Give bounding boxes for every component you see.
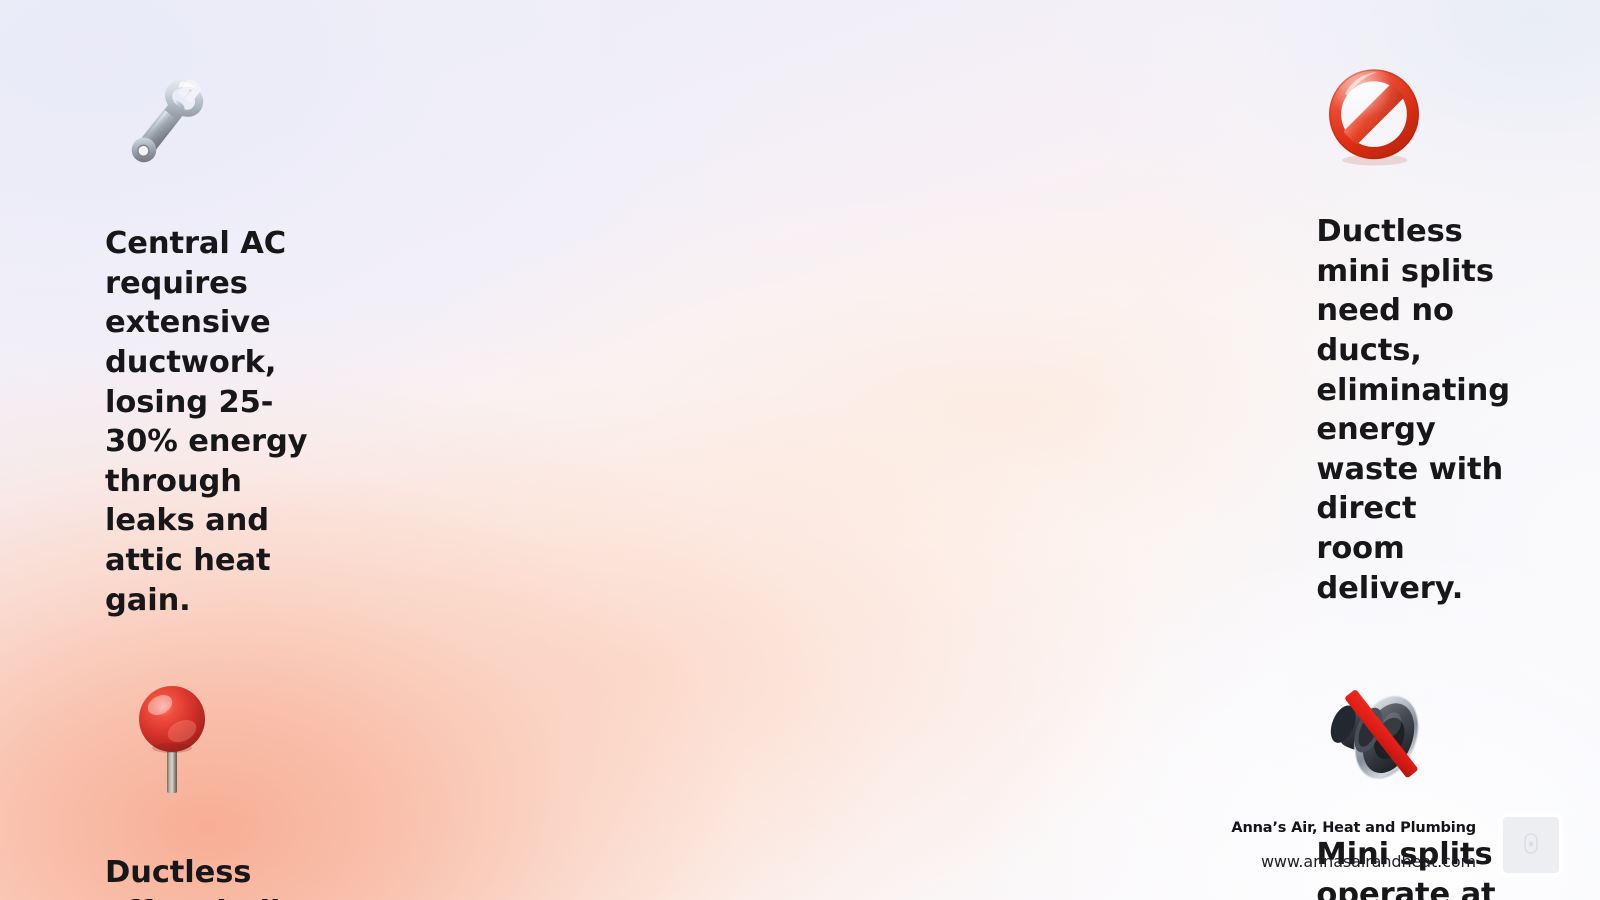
muted-speaker-icon [1321,675,1441,793]
wrench-icon [107,62,225,180]
card-text: Ductless offers built-in zoning for room… [105,853,311,900]
brand-website-url[interactable]: www.annasairandheat.com [1231,852,1476,871]
infographic-canvas: Central AC requires extensive ductwork, … [0,0,1600,900]
footer-text-block: Anna’s Air, Heat and Plumbing www.annasa… [1231,820,1476,871]
card-text: Central AC requires extensive ductwork, … [105,224,311,620]
card-text: Ductless mini splits need no ducts, elim… [1316,212,1510,608]
prohibited-icon [1320,62,1428,170]
company-logo-placeholder-icon [1520,832,1542,858]
card-central-ac-ductwork: Central AC requires extensive ductwork, … [0,0,411,620]
card-ductless-zoning: Ductless offers built-in zoning for room… [0,620,411,900]
pushpin-icon [127,675,223,805]
footer-branding: Anna’s Air, Heat and Plumbing www.annasa… [1231,814,1562,876]
company-logo-placeholder [1500,814,1562,876]
card-grid: Central AC requires extensive ductwork, … [0,0,1600,900]
brand-name: Anna’s Air, Heat and Plumbing [1231,820,1476,836]
card-ductless-no-ducts: Ductless mini splits need no ducts, elim… [411,0,1600,620]
